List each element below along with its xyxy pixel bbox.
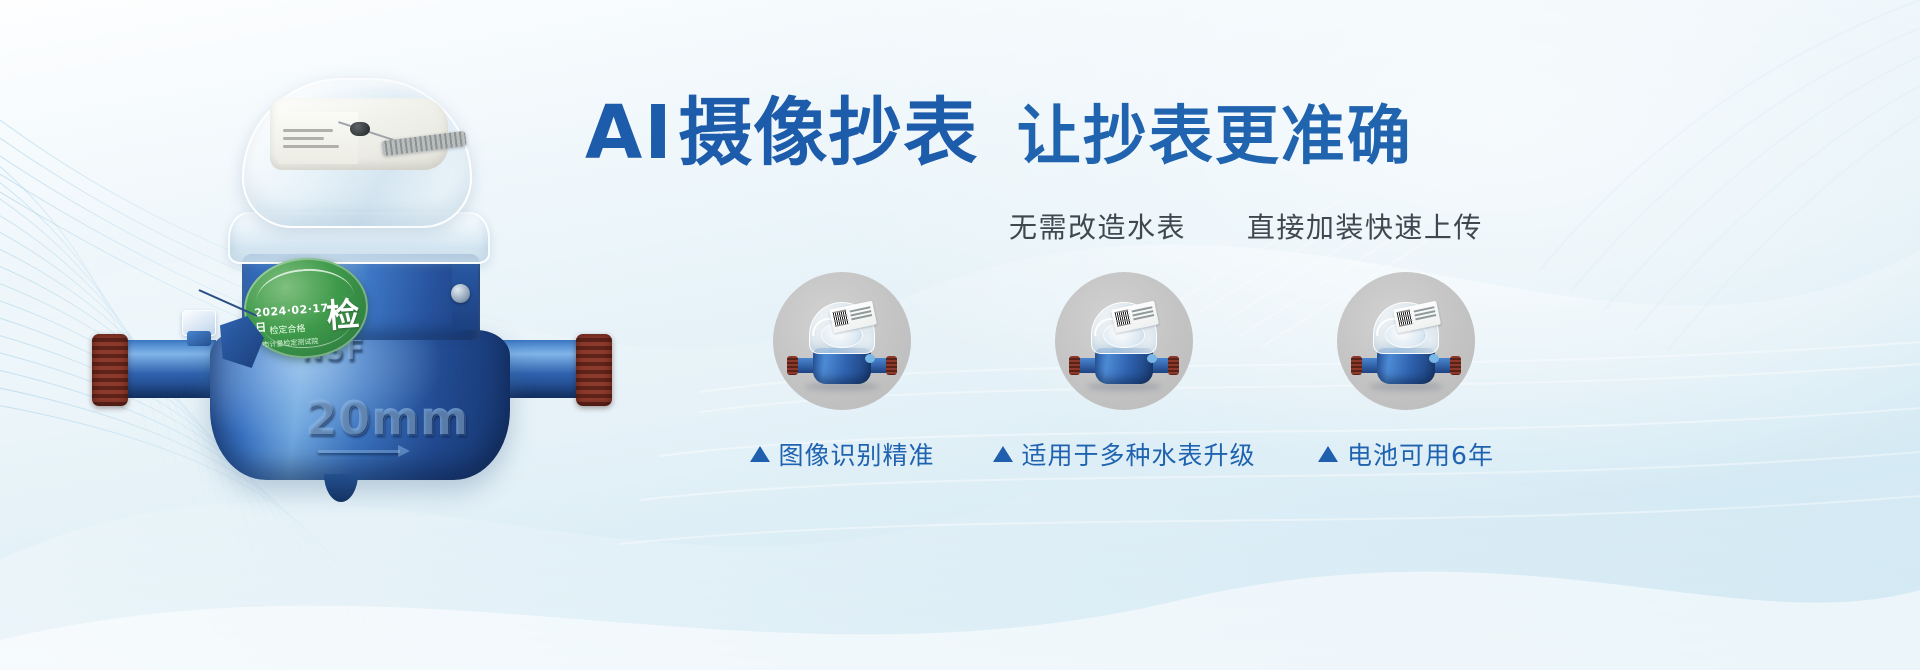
triangle-up-icon	[1318, 446, 1338, 462]
promo-banner: NSF 20mm 2024·02·17日 检 检定合格 市计量检定测试院	[0, 0, 1920, 670]
spec-label-icon	[278, 112, 358, 164]
water-meter-thumbnail-1	[773, 272, 911, 410]
water-meter-thumbnail-3	[1337, 272, 1475, 410]
size-marking: 20mm	[306, 392, 470, 446]
feature-label-2: 适用于多种水表升级	[1022, 436, 1256, 472]
flow-direction-arrow-icon	[318, 450, 400, 453]
inlet-thread-icon	[92, 334, 128, 406]
anti-tamper-seal-icon	[182, 310, 216, 336]
feature-item-1: 图像识别精准	[760, 272, 924, 472]
headline-secondary: 让抄表更准确	[1017, 100, 1413, 174]
outlet-thread-icon	[576, 334, 612, 406]
feature-item-3: 电池可用6年	[1324, 272, 1488, 472]
subheadline-left: 无需改造水表	[1009, 211, 1186, 244]
feature-caption-2: 适用于多种水表升级	[993, 436, 1256, 472]
hero-water-meter-product: NSF 20mm 2024·02·17日 检 检定合格 市计量检定测试院	[92, 78, 612, 508]
subheadline-right: 直接加装快速上传	[1247, 211, 1483, 244]
feature-caption-3: 电池可用6年	[1318, 436, 1494, 472]
camera-lens-icon	[350, 122, 370, 136]
fastener-screw-icon	[451, 284, 470, 303]
headline-main: 摄像抄表	[678, 90, 978, 176]
triangle-up-icon	[993, 446, 1013, 462]
copy-block: AI 摄像抄表 让抄表更准确 无需改造水表 直接加装快速上传	[585, 96, 1875, 246]
water-meter-thumbnail-2	[1055, 272, 1193, 410]
feature-label-3: 电池可用6年	[1347, 436, 1494, 472]
triangle-up-icon	[750, 446, 770, 462]
drain-nub	[324, 474, 358, 502]
feature-item-2: 适用于多种水表升级	[1042, 272, 1206, 472]
seal-big-char: 检	[325, 287, 361, 337]
feature-label-1: 图像识别精准	[779, 436, 935, 472]
seal-sub-text: 检定合格	[269, 321, 306, 336]
feature-caption-1: 图像识别精准	[750, 436, 935, 472]
headline: AI 摄像抄表 让抄表更准确	[585, 96, 1875, 170]
headline-ai: AI	[585, 90, 674, 176]
feature-list: 图像识别精准 适用于多种水表升级	[760, 272, 1488, 472]
subheadline: 无需改造水表 直接加装快速上传	[1009, 206, 1875, 246]
